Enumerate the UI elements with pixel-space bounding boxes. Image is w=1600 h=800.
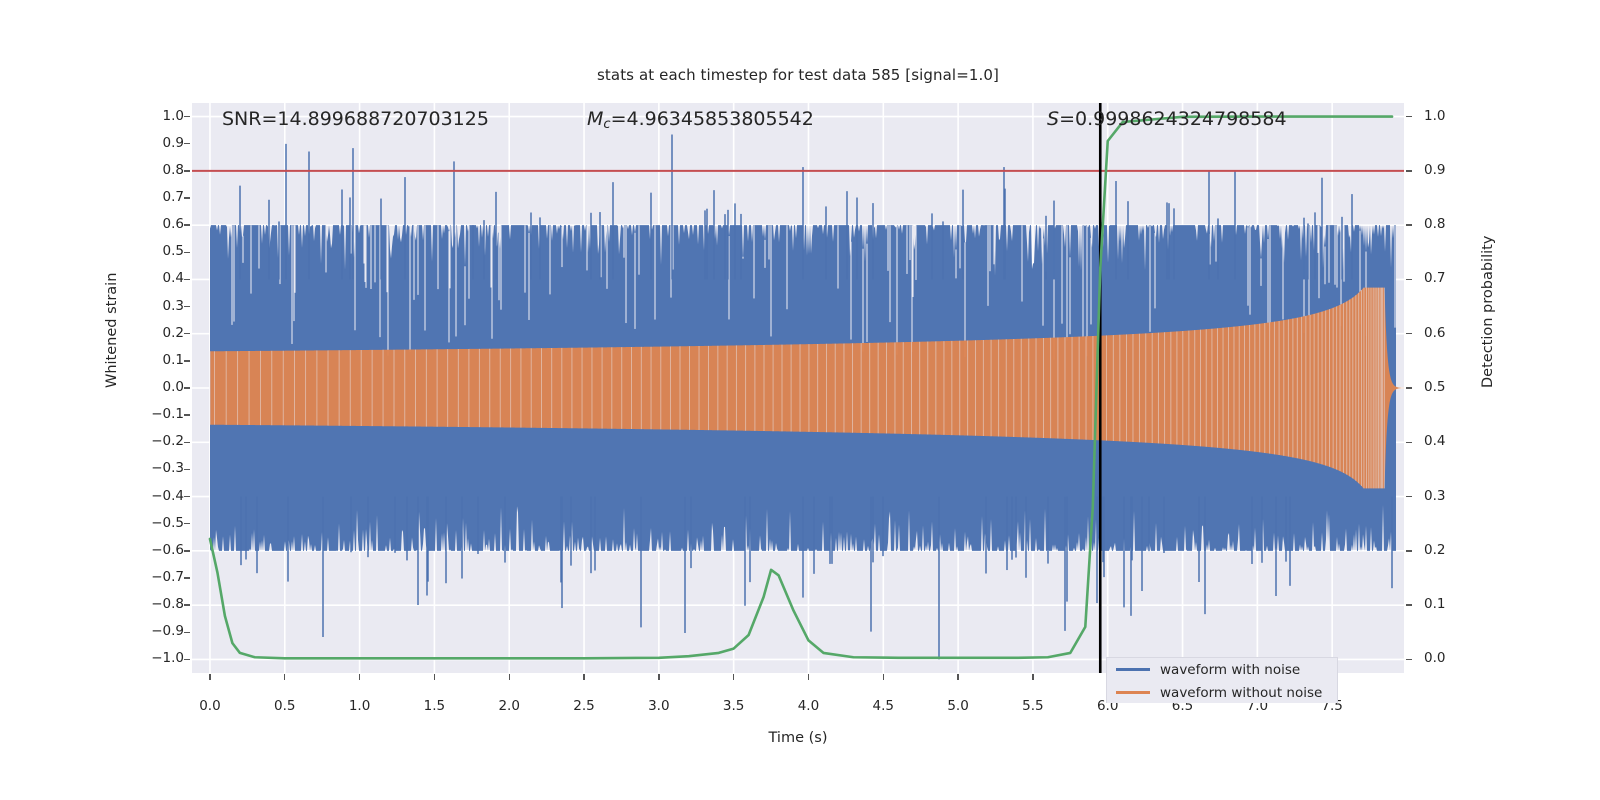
chart-title: stats at each timestep for test data 585… bbox=[192, 66, 1404, 84]
y-tick-label-right: 0.0 bbox=[1424, 652, 1484, 666]
x-tick-mark bbox=[509, 674, 510, 680]
y-tick-label-right: 0.3 bbox=[1424, 490, 1484, 504]
y-tick-mark-left bbox=[184, 143, 190, 144]
y-tick-label-left: 0.0 bbox=[124, 381, 184, 395]
y-tick-mark-left bbox=[184, 197, 190, 198]
y-tick-mark-left bbox=[184, 414, 190, 415]
x-tick-label: 5.5 bbox=[1003, 700, 1063, 714]
x-tick-label: 3.0 bbox=[629, 700, 689, 714]
y-axis-right-label: Detection probability bbox=[1480, 236, 1496, 388]
x-tick-label: 1.5 bbox=[404, 700, 464, 714]
plot-svg bbox=[192, 103, 1404, 673]
y-tick-mark-right bbox=[1406, 659, 1412, 660]
y-tick-label-left: 1.0 bbox=[124, 110, 184, 124]
y-tick-label-left: −1.0 bbox=[124, 652, 184, 666]
annotation-mc-symbol: M bbox=[587, 108, 603, 130]
annotation-snr-value: 14.899688720703125 bbox=[277, 108, 489, 130]
annotation-s-value: 0.9998624324798584 bbox=[1075, 108, 1287, 130]
x-tick-mark bbox=[658, 674, 659, 680]
y-tick-label-left: −0.9 bbox=[124, 625, 184, 639]
y-tick-mark-right bbox=[1406, 496, 1412, 497]
y-tick-mark-right bbox=[1406, 279, 1412, 280]
y-tick-label-right: 0.7 bbox=[1424, 272, 1484, 286]
y-tick-mark-right bbox=[1406, 550, 1412, 551]
annotation-score: S=0.9998624324798584 bbox=[1047, 108, 1287, 130]
y-tick-label-left: 0.8 bbox=[124, 164, 184, 178]
y-tick-mark-left bbox=[184, 333, 190, 334]
y-tick-label-left: 0.6 bbox=[124, 218, 184, 232]
figure-canvas: stats at each timestep for test data 585… bbox=[0, 0, 1600, 800]
y-tick-label-left: 0.4 bbox=[124, 272, 184, 286]
annotation-mc-subscript: c bbox=[603, 117, 610, 132]
y-tick-mark-left bbox=[184, 116, 190, 117]
y-tick-mark-left bbox=[184, 469, 190, 470]
y-tick-label-left: 0.3 bbox=[124, 300, 184, 314]
x-tick-label: 4.0 bbox=[778, 700, 838, 714]
y-tick-mark-left bbox=[184, 523, 190, 524]
y-tick-label-right: 0.9 bbox=[1424, 164, 1484, 178]
y-tick-label-left: −0.3 bbox=[124, 462, 184, 476]
annotation-snr-prefix: SNR= bbox=[222, 108, 277, 130]
y-tick-mark-left bbox=[184, 577, 190, 578]
y-tick-mark-left bbox=[184, 387, 190, 388]
y-tick-label-left: −0.2 bbox=[124, 435, 184, 449]
y-axis-left-label: Whitened strain bbox=[104, 273, 120, 388]
y-tick-label-left: −0.8 bbox=[124, 598, 184, 612]
x-tick-label: 5.0 bbox=[928, 700, 988, 714]
y-tick-label-right: 1.0 bbox=[1424, 110, 1484, 124]
y-tick-label-left: 0.2 bbox=[124, 327, 184, 341]
annotation-snr: SNR=14.899688720703125 bbox=[222, 108, 489, 130]
y-tick-mark-right bbox=[1406, 387, 1412, 388]
plot-area: SNR=14.899688720703125 Mc=4.963458538055… bbox=[192, 103, 1404, 673]
x-tick-label: 2.5 bbox=[554, 700, 614, 714]
y-tick-mark-left bbox=[184, 170, 190, 171]
x-tick-mark bbox=[1032, 674, 1033, 680]
y-tick-mark-left bbox=[184, 550, 190, 551]
y-tick-mark-right bbox=[1406, 333, 1412, 334]
y-tick-label-left: 0.5 bbox=[124, 245, 184, 259]
x-tick-mark bbox=[583, 674, 584, 680]
y-tick-mark-left bbox=[184, 252, 190, 253]
y-tick-label-right: 0.4 bbox=[1424, 435, 1484, 449]
y-tick-label-left: −0.7 bbox=[124, 571, 184, 585]
x-tick-mark bbox=[808, 674, 809, 680]
annotation-mc-prefix: = bbox=[611, 108, 627, 130]
legend-label-with-noise: waveform with noise bbox=[1160, 662, 1300, 678]
y-tick-mark-right bbox=[1406, 604, 1412, 605]
legend-item: waveform without noise bbox=[1107, 681, 1337, 703]
y-tick-mark-left bbox=[184, 279, 190, 280]
x-tick-label: 4.5 bbox=[853, 700, 913, 714]
x-tick-label: 0.5 bbox=[255, 700, 315, 714]
y-tick-mark-right bbox=[1406, 116, 1412, 117]
y-tick-label-left: 0.7 bbox=[124, 191, 184, 205]
y-tick-mark-right bbox=[1406, 224, 1412, 225]
x-tick-label: 3.5 bbox=[704, 700, 764, 714]
y-tick-label-left: −0.1 bbox=[124, 408, 184, 422]
legend-label-without-noise: waveform without noise bbox=[1160, 685, 1322, 701]
y-tick-mark-left bbox=[184, 632, 190, 633]
y-tick-label-right: 0.1 bbox=[1424, 598, 1484, 612]
y-tick-mark-left bbox=[184, 224, 190, 225]
legend-item: waveform with noise bbox=[1107, 658, 1337, 681]
x-tick-mark bbox=[359, 674, 360, 680]
y-tick-label-right: 0.2 bbox=[1424, 544, 1484, 558]
y-tick-mark-left bbox=[184, 604, 190, 605]
y-tick-label-left: −0.6 bbox=[124, 544, 184, 558]
x-tick-label: 2.0 bbox=[479, 700, 539, 714]
y-tick-label-right: 0.5 bbox=[1424, 381, 1484, 395]
legend-swatch-with-noise bbox=[1116, 668, 1150, 670]
x-tick-label: 1.0 bbox=[330, 700, 390, 714]
x-axis-label: Time (s) bbox=[192, 730, 1404, 746]
y-tick-label-left: −0.4 bbox=[124, 490, 184, 504]
y-tick-label-left: 0.1 bbox=[124, 354, 184, 368]
y-tick-label-left: −0.5 bbox=[124, 517, 184, 531]
legend-swatch-without-noise bbox=[1116, 691, 1150, 693]
x-tick-mark bbox=[957, 674, 958, 680]
y-tick-label-right: 0.8 bbox=[1424, 218, 1484, 232]
x-tick-mark bbox=[434, 674, 435, 680]
y-tick-mark-right bbox=[1406, 170, 1412, 171]
y-tick-label-left: 0.9 bbox=[124, 137, 184, 151]
y-tick-mark-left bbox=[184, 306, 190, 307]
y-tick-mark-left bbox=[184, 496, 190, 497]
chart-legend: waveform with noise waveform without noi… bbox=[1106, 657, 1338, 703]
x-tick-mark bbox=[733, 674, 734, 680]
x-tick-mark bbox=[284, 674, 285, 680]
annotation-s-symbol: S bbox=[1047, 108, 1059, 130]
y-tick-mark-left bbox=[184, 360, 190, 361]
y-tick-label-right: 0.6 bbox=[1424, 327, 1484, 341]
annotation-s-prefix: = bbox=[1059, 108, 1075, 130]
x-tick-mark bbox=[883, 674, 884, 680]
annotation-chirp-mass: Mc=4.96345853805542 bbox=[587, 108, 814, 132]
y-tick-mark-left bbox=[184, 659, 190, 660]
x-tick-label: 0.0 bbox=[180, 700, 240, 714]
x-tick-mark bbox=[209, 674, 210, 680]
y-tick-mark-left bbox=[184, 442, 190, 443]
y-tick-mark-right bbox=[1406, 442, 1412, 443]
annotation-mc-value: 4.96345853805542 bbox=[626, 108, 813, 130]
